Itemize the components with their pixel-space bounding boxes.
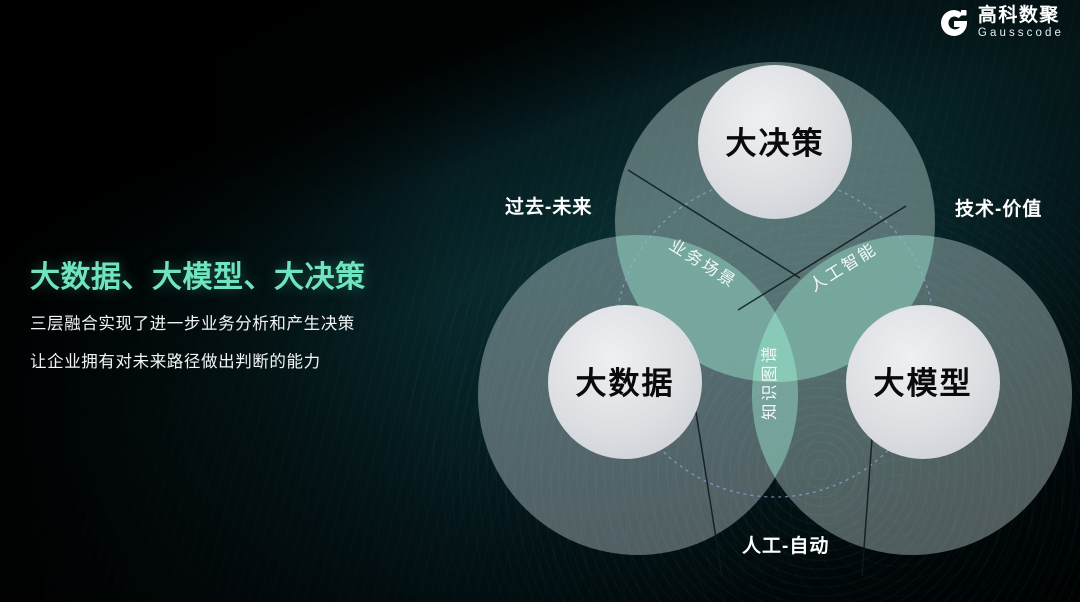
- subtitle-line-1: 三层融合实现了进一步业务分析和产生决策: [30, 310, 460, 334]
- core-label-bigdata: 大数据: [576, 366, 675, 401]
- gausscode-g-mark-icon: [939, 8, 969, 38]
- axis-label-manual-auto: 人工-自动: [742, 531, 829, 558]
- subtitle-line-2: 让企业拥有对未来路径做出判断的能力: [30, 348, 460, 372]
- brand-logo-text: 高科数聚 Gausscode: [978, 6, 1064, 40]
- overlap-label-knowledge-graph: 知识图谱: [760, 344, 779, 420]
- slide-canvas: 高科数聚 Gausscode 大数据、大模型、大决策 三层融合实现了进一步业务分…: [0, 0, 1080, 602]
- brand-name-en: Gausscode: [978, 28, 1064, 40]
- axis-label-past-future: 过去-未来: [505, 192, 592, 219]
- brand-logo: 高科数聚 Gausscode: [939, 6, 1064, 40]
- page-title: 大数据、大模型、大决策: [30, 252, 460, 296]
- core-label-bigmodel: 大模型: [874, 366, 973, 401]
- brand-name-cn: 高科数聚: [978, 6, 1064, 25]
- core-label-decision: 大决策: [726, 126, 825, 161]
- axis-label-tech-value: 技术-价值: [955, 194, 1042, 221]
- venn-diagram: 业务场景 人工智能 知识图谱 大决策 大数据 大模型: [470, 10, 1080, 602]
- headline-block: 大数据、大模型、大决策 三层融合实现了进一步业务分析和产生决策 让企业拥有对未来…: [30, 252, 460, 372]
